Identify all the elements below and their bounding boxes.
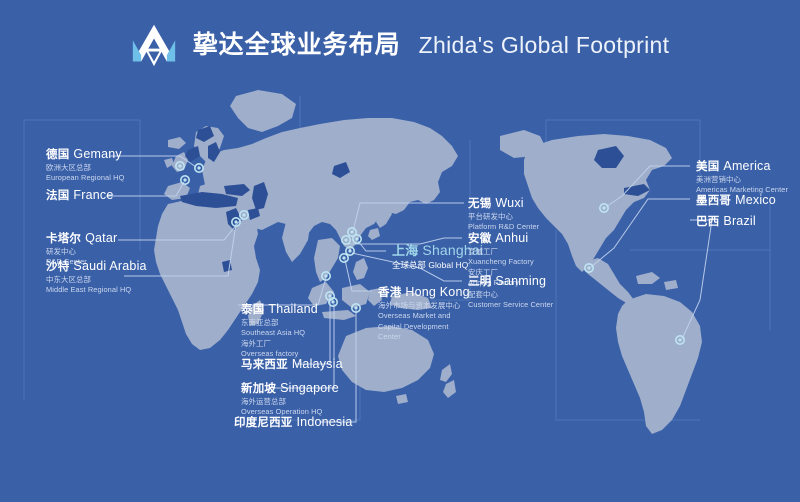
label-hong-kong-cn: 香港 — [378, 287, 401, 299]
marker-france-core — [183, 178, 186, 181]
marker-saudi[interactable] — [232, 218, 240, 226]
label-mexico-cn: 墨西哥 — [696, 195, 731, 207]
label-america-en: America — [723, 159, 770, 173]
label-saudi-arabia-cn: 沙特 — [46, 261, 69, 273]
marker-brazil[interactable] — [676, 336, 684, 344]
label-france-en: France — [73, 188, 113, 202]
label-france[interactable]: 法国France — [46, 186, 114, 204]
label-mexico-en: Mexico — [735, 193, 776, 207]
marker-anhui-core — [344, 238, 347, 241]
marker-mexico[interactable] — [585, 264, 593, 272]
marker-mexico-core — [587, 266, 590, 269]
label-saudi-arabia-sub: 中东大区总部 Middle East Regional HQ — [46, 275, 147, 296]
marker-singapore-core — [331, 300, 334, 303]
label-sanming-en: Sanming — [495, 274, 546, 288]
label-germany[interactable]: 德国Gemany 欧洲大区总部 European Regional HQ — [46, 145, 124, 184]
label-singapore-cn: 新加坡 — [241, 383, 276, 395]
label-hong-kong[interactable]: 香港Hong Kong 海外市场与资本发展中心 Overseas Market … — [378, 283, 470, 343]
marker-america-core — [602, 206, 605, 209]
marker-anhui[interactable] — [342, 236, 350, 244]
label-brazil-en: Brazil — [723, 214, 755, 228]
label-mexico[interactable]: 墨西哥Mexico — [696, 191, 776, 209]
marker-wuxi[interactable] — [348, 228, 356, 236]
label-thailand[interactable]: 泰国Thailand 东南亚总部 Southeast Asia HQ 海外工厂 … — [241, 300, 318, 360]
label-germany-sub: 欧洲大区总部 European Regional HQ — [46, 163, 124, 184]
marker-hongkong-core — [342, 256, 345, 259]
label-brazil-cn: 巴西 — [696, 216, 719, 228]
label-thailand-sub: 东南亚总部 Southeast Asia HQ 海外工厂 Overseas fa… — [241, 318, 318, 360]
marker-sanming-core — [348, 249, 351, 252]
marker-germany[interactable] — [195, 164, 203, 172]
page-header: 挚达全球业务布局 Zhida's Global Footprint — [0, 0, 800, 90]
label-hong-kong-sub: 海外市场与资本发展中心 Overseas Market and Capital … — [378, 301, 470, 343]
marker-indonesia-core — [354, 306, 357, 309]
infographic-canvas: 挚达全球业务布局 Zhida's Global Footprint 德国Gema… — [0, 0, 800, 502]
marker-saudi-core — [234, 220, 237, 223]
label-malaysia[interactable]: 马来西亚Malaysia — [241, 355, 343, 373]
page-title-cn: 挚达全球业务布局 — [193, 33, 401, 58]
marker-qatar[interactable] — [240, 211, 248, 219]
label-indonesia-en: Indonesia — [297, 415, 353, 429]
label-sanming-cn: 三明 — [468, 276, 491, 288]
marker-sanming[interactable] — [346, 247, 354, 255]
marker-uk[interactable] — [176, 162, 184, 170]
label-anhui-cn: 安徽 — [468, 233, 491, 245]
label-wuxi-cn: 无锡 — [468, 198, 491, 210]
label-thailand-en: Thailand — [268, 302, 318, 316]
label-france-cn: 法国 — [46, 190, 69, 202]
label-malaysia-cn: 马来西亚 — [241, 359, 288, 371]
marker-qatar-core — [242, 213, 245, 216]
label-indonesia-cn: 印度尼西亚 — [234, 417, 293, 429]
label-germany-en: Gemany — [73, 147, 121, 161]
label-wuxi[interactable]: 无锡Wuxi 平台研发中心 Platform R&D Center — [468, 194, 539, 233]
label-hong-kong-en: Hong Kong — [405, 285, 469, 299]
marker-singapore[interactable] — [329, 298, 337, 306]
marker-indonesia[interactable] — [352, 304, 360, 312]
label-sanming[interactable]: 三明Sanming 配套中心 Customer Service Center — [468, 272, 553, 311]
marker-hongkong[interactable] — [340, 254, 348, 262]
marker-thailand-core — [324, 274, 327, 277]
label-anhui-en: Anhui — [495, 231, 528, 245]
label-thailand-cn: 泰国 — [241, 304, 264, 316]
label-sanming-sub: 配套中心 Customer Service Center — [468, 290, 553, 311]
marker-brazil-core — [678, 338, 681, 341]
marker-uk-core — [178, 164, 181, 167]
label-germany-cn: 德国 — [46, 149, 69, 161]
page-title-en: Zhida's Global Footprint — [419, 34, 670, 57]
label-brazil[interactable]: 巴西Brazil — [696, 212, 756, 230]
marker-malaysia-core — [328, 294, 331, 297]
label-qatar-en: Qatar — [85, 231, 117, 245]
zhida-a-logo-icon — [131, 22, 177, 68]
marker-shanghai[interactable] — [353, 235, 361, 243]
marker-france[interactable] — [181, 176, 189, 184]
label-malaysia-en: Malaysia — [292, 357, 343, 371]
marker-malaysia[interactable] — [326, 292, 334, 300]
marker-thailand[interactable] — [322, 272, 330, 280]
label-indonesia[interactable]: 印度尼西亚Indonesia — [234, 413, 353, 431]
marker-america[interactable] — [600, 204, 608, 212]
label-singapore-en: Singapore — [280, 381, 339, 395]
marker-germany-core — [197, 166, 200, 169]
label-saudi-arabia-en: Saudi Arabia — [73, 259, 146, 273]
label-qatar-cn: 卡塔尔 — [46, 233, 81, 245]
marker-shanghai-core — [355, 237, 358, 240]
label-shanghai-cn: 上海 — [392, 243, 418, 258]
marker-wuxi-core — [350, 230, 353, 233]
label-america-cn: 美国 — [696, 161, 719, 173]
label-wuxi-en: Wuxi — [495, 196, 523, 210]
label-saudi-arabia[interactable]: 沙特Saudi Arabia 中东大区总部 Middle East Region… — [46, 257, 147, 296]
